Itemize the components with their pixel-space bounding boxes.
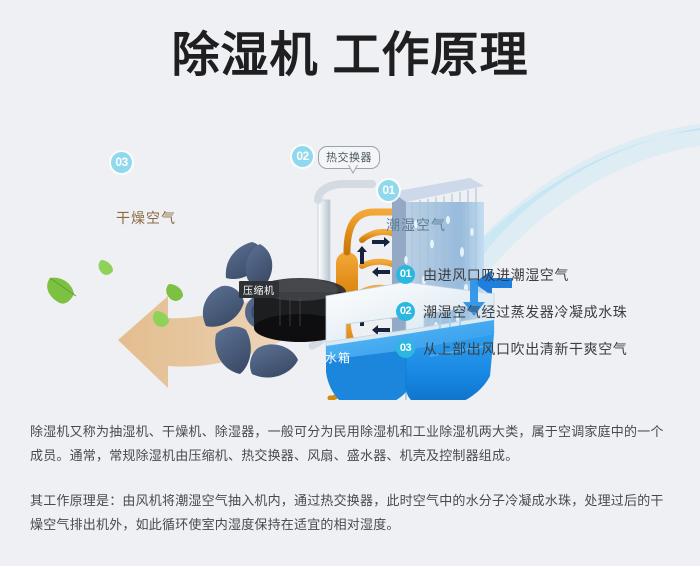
diagram-step-03-badge: 03 (111, 152, 132, 173)
callout-badge-01: 01 (396, 265, 415, 284)
description-paragraph-2: 其工作原理是：由风机将潮湿空气抽入机内，通过热交换器，此时空气中的水分子冷凝成水… (30, 489, 675, 537)
callout-item-01: 01 由进风口吸进潮湿空气 (396, 256, 686, 293)
callout-badge-02: 02 (396, 302, 415, 321)
page-title-secondary: 工作原理 (333, 29, 529, 82)
heat-exchanger-callout-tail (348, 165, 358, 174)
callout-item-02: 02 潮湿空气经过蒸发器冷凝成水珠 (396, 293, 686, 330)
callout-item-03: 03 从上部出风口吹出清新干爽空气 (396, 330, 686, 367)
page-title: 除湿机工作原理 (0, 28, 700, 83)
compressor-label: 压缩机 (239, 281, 279, 298)
step-callout-list: 01 由进风口吸进潮湿空气 02 潮湿空气经过蒸发器冷凝成水珠 03 从上部出风… (396, 256, 686, 367)
diagram-step-01-badge: 01 (378, 180, 399, 201)
callout-text-03: 从上部出风口吹出清新干爽空气 (423, 339, 627, 359)
water-tank-label: 水箱 (325, 349, 351, 366)
callout-badge-03: 03 (396, 339, 415, 358)
leaf-icon-group (47, 260, 183, 327)
dry-air-label: 干燥空气 (116, 208, 176, 228)
callout-text-01: 由进风口吸进潮湿空气 (423, 265, 569, 285)
callout-text-02: 潮湿空气经过蒸发器冷凝成水珠 (423, 302, 627, 322)
diagram-step-02-badge: 02 (292, 146, 313, 167)
description-paragraph-1: 除湿机又称为抽湿机、干燥机、除湿器，一般可分为民用除湿机和工业除湿机两大类，属于… (30, 420, 675, 468)
humid-air-label: 潮湿空气 (386, 215, 446, 235)
description-block: 除湿机又称为抽湿机、干燥机、除湿器，一般可分为民用除湿机和工业除湿机两大类，属于… (30, 420, 675, 537)
page-title-primary: 除湿机 (171, 29, 318, 82)
